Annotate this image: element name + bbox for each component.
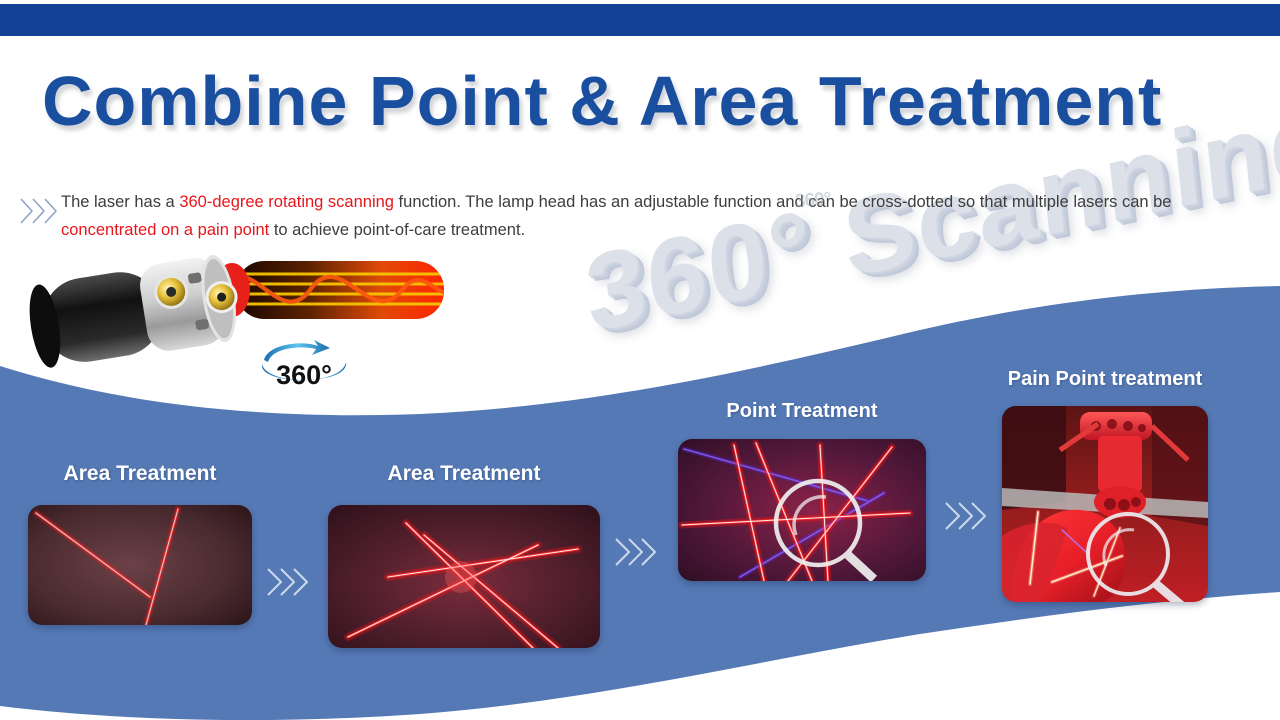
rotation-arrow-icon: 360° — [252, 338, 356, 400]
para-highlight-2: concentrated on a pain point — [61, 221, 269, 239]
triple-chevron-icon — [264, 562, 310, 602]
treatment-card-pain-point: Pain Point treatment — [1000, 368, 1210, 608]
treatment-card-area-2: Area Treatment — [328, 462, 600, 650]
card-caption: Pain Point treatment — [1000, 368, 1210, 391]
card-caption: Area Treatment — [28, 462, 252, 486]
para-seg-2: function. The lamp head has an adjustabl… — [394, 193, 1172, 211]
laser-area-lines-photo — [28, 505, 252, 625]
card-caption: Point Treatment — [678, 400, 926, 423]
card-caption: Area Treatment — [328, 462, 600, 486]
laser-therapy-back-photo — [1002, 406, 1208, 602]
intro-paragraph-block: The laser has a 360-degree rotating scan… — [18, 188, 1238, 244]
para-seg-1: The laser has a — [61, 193, 179, 211]
badge-360-label: 360° — [276, 360, 332, 390]
para-seg-3: to achieve point-of-care treatment. — [269, 221, 525, 239]
treatment-card-point: Point Treatment — [678, 400, 926, 580]
triple-chevron-icon — [942, 496, 988, 536]
laser-crossed-lines-photo — [328, 505, 600, 648]
triple-chevron-icon — [612, 532, 658, 572]
laser-point-convergence-photo — [678, 439, 926, 581]
treatment-card-area-1: Area Treatment — [28, 462, 252, 630]
intro-paragraph: The laser has a 360-degree rotating scan… — [61, 188, 1238, 244]
triple-chevron-icon — [18, 194, 64, 228]
slide-canvas: Combine Point & Area Treatment 360° Scan… — [0, 0, 1280, 720]
para-highlight-1: 360-degree rotating scanning — [179, 193, 394, 211]
